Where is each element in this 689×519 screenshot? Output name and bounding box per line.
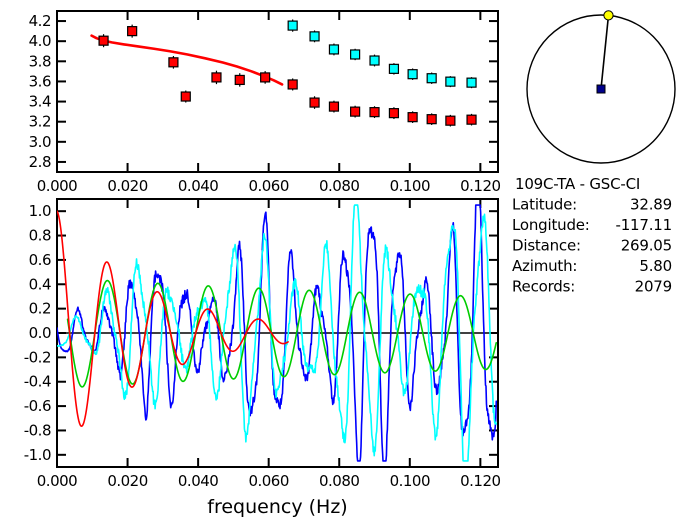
narrowband-red xyxy=(57,211,288,426)
x-tick-label: 0.040 xyxy=(178,177,218,195)
y-tick-label: 4.2 xyxy=(29,12,51,30)
info-label: Records: xyxy=(512,278,575,296)
data-point xyxy=(261,73,270,82)
info-value: 5.80 xyxy=(639,257,672,275)
info-label: Distance: xyxy=(512,237,581,255)
y-tick-label: -0.4 xyxy=(24,373,51,391)
y-tick-label: 3.2 xyxy=(29,113,51,131)
info-label: Azimuth: xyxy=(512,257,577,275)
data-point xyxy=(408,70,417,79)
info-value: 2079 xyxy=(635,278,672,296)
y-tick-label: 3.8 xyxy=(29,52,51,70)
data-point xyxy=(288,80,297,89)
x-tick-label: 0.000 xyxy=(37,177,77,195)
y-tick-label: 0.6 xyxy=(29,251,51,269)
data-point xyxy=(446,116,455,125)
y-tick-label: 0.2 xyxy=(29,300,51,318)
y-tick-label: -0.2 xyxy=(24,348,51,366)
data-point xyxy=(351,107,360,116)
azimuth-ray xyxy=(601,15,608,89)
data-point xyxy=(408,113,417,122)
data-point xyxy=(329,102,338,111)
data-point xyxy=(310,98,319,107)
x-tick-label: 0.020 xyxy=(107,472,147,490)
x-tick-label: 0.120 xyxy=(460,177,500,195)
model-fit-line xyxy=(92,36,283,85)
x-tick-label: 0.120 xyxy=(460,472,500,490)
y-tick-label: 0.4 xyxy=(29,275,51,293)
data-point xyxy=(212,73,221,82)
y-tick-label: -0.8 xyxy=(24,421,51,439)
info-label: Longitude: xyxy=(512,216,590,234)
data-point xyxy=(446,77,455,86)
x-axis-title: frequency (Hz) xyxy=(207,496,347,518)
group-velocity-red xyxy=(99,25,476,127)
x-tick-label: 0.080 xyxy=(319,472,359,490)
data-point xyxy=(467,78,476,87)
x-tick-label: 0.040 xyxy=(178,472,218,490)
azimuth-circle xyxy=(527,11,675,163)
x-tick-label: 0.100 xyxy=(390,177,430,195)
y-tick-label: 0.0 xyxy=(29,324,51,342)
figure-root: 0.0000.0200.0400.0600.0800.1000.1202.83.… xyxy=(0,0,689,519)
center-station-marker xyxy=(597,85,605,93)
x-tick-label: 0.020 xyxy=(107,177,147,195)
x-tick-label: 0.060 xyxy=(248,177,288,195)
data-point xyxy=(370,56,379,65)
data-point xyxy=(169,58,178,67)
info-value: -117.11 xyxy=(616,216,673,234)
x-tick-label: 0.100 xyxy=(390,472,430,490)
data-point xyxy=(351,50,360,59)
data-point xyxy=(427,74,436,83)
data-point xyxy=(427,115,436,124)
y-tick-label: 4.0 xyxy=(29,32,51,50)
y-tick-label: -1.0 xyxy=(24,446,51,464)
data-point xyxy=(235,75,244,84)
info-label: Latitude: xyxy=(512,196,577,214)
dispersion-plot-frame xyxy=(57,11,498,172)
data-point xyxy=(181,92,190,101)
station-info-block: 109C-TA - GSC-CILatitude:32.89Longitude:… xyxy=(512,175,672,296)
y-tick-label: 3.6 xyxy=(29,72,51,90)
seismic-figure: 0.0000.0200.0400.0600.0800.1000.1202.83.… xyxy=(0,0,689,519)
x-tick-label: 0.000 xyxy=(37,472,77,490)
y-tick-label: 3.0 xyxy=(29,133,51,151)
data-point xyxy=(329,45,338,54)
x-tick-label: 0.080 xyxy=(319,177,359,195)
data-point xyxy=(389,109,398,118)
remote-station-marker xyxy=(604,11,613,20)
station-pair-label: 109C-TA - GSC-CI xyxy=(515,175,640,193)
y-tick-label: 0.8 xyxy=(29,227,51,245)
y-tick-label: 3.4 xyxy=(29,93,51,111)
x-tick-label: 0.060 xyxy=(248,472,288,490)
phase-velocity-cyan xyxy=(288,19,476,88)
data-point xyxy=(99,36,108,45)
info-value: 32.89 xyxy=(630,196,672,214)
data-point xyxy=(467,115,476,124)
info-value: 269.05 xyxy=(621,237,672,255)
data-point xyxy=(310,32,319,41)
data-point xyxy=(288,21,297,30)
y-tick-label: 2.8 xyxy=(29,153,51,171)
y-tick-label: -0.6 xyxy=(24,397,51,415)
data-point xyxy=(370,108,379,117)
data-point xyxy=(389,64,398,73)
y-tick-label: 1.0 xyxy=(29,202,51,220)
data-point xyxy=(128,27,137,36)
